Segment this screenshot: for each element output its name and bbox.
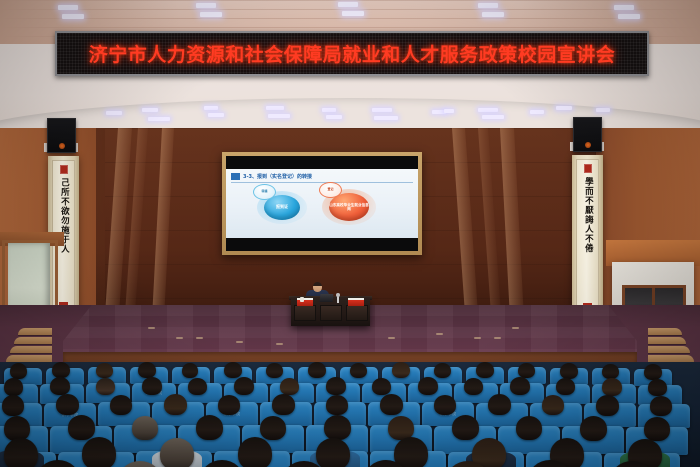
audience-head	[238, 437, 272, 467]
speaker-cone-icon	[59, 143, 65, 149]
audience-head	[234, 377, 254, 395]
ceiling-light-icon	[326, 115, 342, 119]
led-banner: 济宁市人力资源和社会保障局就业和人才服务政策校园宣讲会	[55, 31, 649, 76]
water-cup-icon	[300, 297, 304, 302]
audience-head	[196, 415, 223, 440]
ceiling-light-icon	[482, 12, 504, 17]
audience-head	[418, 377, 438, 395]
audience-head	[56, 394, 79, 415]
audience-head	[188, 378, 207, 395]
slide-title-bar: 3-3、报到（实名登记）的转接	[231, 172, 413, 181]
audience-head	[392, 362, 410, 378]
speaker-person-head	[313, 282, 322, 292]
stage-floor-light	[236, 341, 243, 343]
audience-head	[96, 363, 113, 378]
scroll-right-text: 學而不厭誨人不倦	[582, 177, 594, 253]
audience-head	[510, 377, 530, 395]
audience-head	[452, 415, 479, 440]
audience-head	[2, 395, 24, 416]
audience-head	[4, 378, 23, 396]
screen-letterbox-bottom	[226, 238, 418, 251]
audience-head	[68, 415, 95, 440]
stage-floor-light	[388, 337, 395, 339]
calligraphy-scroll-right: 學而不厭誨人不倦	[572, 155, 603, 315]
projection-screen: 3-3、报到（实名登记）的转接 报到证 山东高校毕业生就业信息网 转接 登记	[222, 152, 422, 255]
ceiling-light-icon	[596, 108, 610, 112]
stage-floor-light	[276, 343, 283, 345]
laptop-icon	[320, 294, 334, 302]
audience-head	[648, 379, 667, 396]
ceiling-light-icon	[196, 3, 216, 8]
audience-head	[516, 416, 542, 440]
slide-bubble-orange-small: 登记	[319, 182, 342, 198]
audience-head	[518, 363, 535, 378]
presentation-slide: 3-3、报到（实名登记）的转接 报到证 山东高校毕业生就业信息网 转接 登记	[226, 169, 418, 238]
audience-head	[324, 415, 351, 440]
ceiling-light-icon	[478, 3, 498, 8]
screen-surface: 3-3、报到（实名登记）的转接 报到证 山东高校毕业生就业信息网 转接 登记	[226, 156, 418, 251]
stage-floor-light	[494, 337, 501, 339]
microphone-icon	[337, 295, 339, 303]
ceiling-light-icon	[268, 114, 290, 118]
audience-head	[644, 364, 662, 380]
ceiling-light-icon	[478, 108, 498, 112]
scroll-paper: 學而不厭誨人不倦	[576, 159, 599, 315]
audience-head	[394, 437, 428, 467]
ceiling-light-icon	[266, 106, 284, 110]
audience-head	[182, 363, 198, 378]
stage-floor-light	[512, 327, 519, 329]
ceiling-light-icon	[62, 14, 84, 19]
ceiling-light-icon	[530, 110, 544, 114]
audience-head	[476, 362, 494, 378]
ceiling-light-icon	[204, 106, 218, 110]
ceiling-light-icon	[200, 12, 222, 17]
stage-floor-light	[196, 337, 203, 339]
stage-floor-light	[148, 327, 155, 329]
audience-head	[4, 438, 38, 467]
slide-bubble-blue-small: 转接	[253, 184, 276, 200]
audience-head	[434, 363, 451, 378]
audience-head	[132, 416, 158, 440]
audience-head	[556, 378, 575, 395]
audience-head	[596, 395, 619, 416]
audience-head	[272, 394, 295, 415]
ceiling-light-icon	[148, 117, 170, 121]
ceiling-light-icon	[618, 14, 640, 19]
audience-head	[316, 438, 350, 467]
audience-head	[464, 378, 483, 395]
audience-head	[602, 364, 619, 379]
audience-head	[308, 362, 326, 378]
speaker-cone-icon	[585, 142, 591, 148]
audience-head	[218, 395, 240, 415]
ceiling-light-icon	[58, 5, 78, 10]
audience-head	[326, 395, 348, 415]
audience-head	[434, 395, 456, 415]
ceiling-light-icon	[342, 11, 364, 16]
audience-head	[52, 362, 70, 378]
stage-floor-light	[436, 333, 443, 335]
ceiling-light-icon	[142, 108, 158, 112]
audience-head	[260, 416, 286, 440]
ceiling-light-icon	[106, 111, 122, 115]
audience-head	[138, 362, 156, 378]
audience-head	[542, 395, 564, 415]
led-banner-text: 济宁市人力资源和社会保障局就业和人才服务政策校园宣讲会	[89, 40, 616, 67]
audience-head	[164, 394, 187, 415]
ceiling-light-icon	[614, 5, 634, 10]
ceiling-light-icon	[556, 106, 572, 110]
loudspeaker-icon	[47, 118, 76, 153]
audience-head	[224, 362, 242, 378]
audience-head	[560, 363, 578, 379]
audience-head	[280, 378, 299, 395]
audience-head	[50, 377, 70, 395]
audience-head	[488, 394, 511, 415]
ceiling-light-icon	[208, 113, 224, 117]
audience-head	[372, 378, 391, 395]
audience-head	[380, 394, 403, 415]
ceiling-light-icon	[322, 108, 336, 112]
audience-head	[650, 396, 672, 416]
audience-area: 济宁学院 济宁学院 济宁学院 济宁学院	[0, 362, 700, 467]
auditorium-photo: 济宁市人力资源和社会保障局就业和人才服务政策校园宣讲会 3-3、报到	[0, 0, 700, 467]
ceiling-light-icon	[338, 2, 358, 7]
audience-head	[96, 378, 115, 395]
stage-floor-light	[474, 337, 481, 339]
seal-icon	[60, 165, 68, 174]
screen-letterbox-top	[226, 156, 418, 169]
audience-head	[580, 416, 607, 441]
audience-head	[4, 416, 30, 441]
audience-head	[142, 377, 162, 395]
audience-head	[10, 363, 27, 379]
seal-icon	[584, 164, 592, 173]
table-panel	[346, 305, 368, 321]
audience-head	[160, 438, 194, 467]
slide-title: 3-3、报到（实名登记）的转接	[243, 173, 312, 180]
audience-head	[350, 363, 367, 378]
table-panel	[294, 305, 316, 321]
loudspeaker-icon	[573, 117, 602, 152]
audience-head	[326, 377, 346, 395]
ceiling-light-icon	[444, 109, 454, 113]
audience-head	[644, 417, 670, 441]
audience-head	[602, 378, 622, 396]
ceiling-light-icon	[482, 115, 504, 119]
name-plate	[348, 298, 364, 306]
audience-head	[110, 395, 132, 415]
slide-bullet-icon	[231, 173, 240, 180]
audience-head	[82, 437, 116, 467]
stage-floor-light	[176, 337, 183, 339]
ceiling-light-icon	[374, 116, 398, 120]
ceiling-light-icon	[372, 108, 392, 112]
audience-head	[266, 363, 283, 378]
table-panel	[320, 305, 342, 321]
